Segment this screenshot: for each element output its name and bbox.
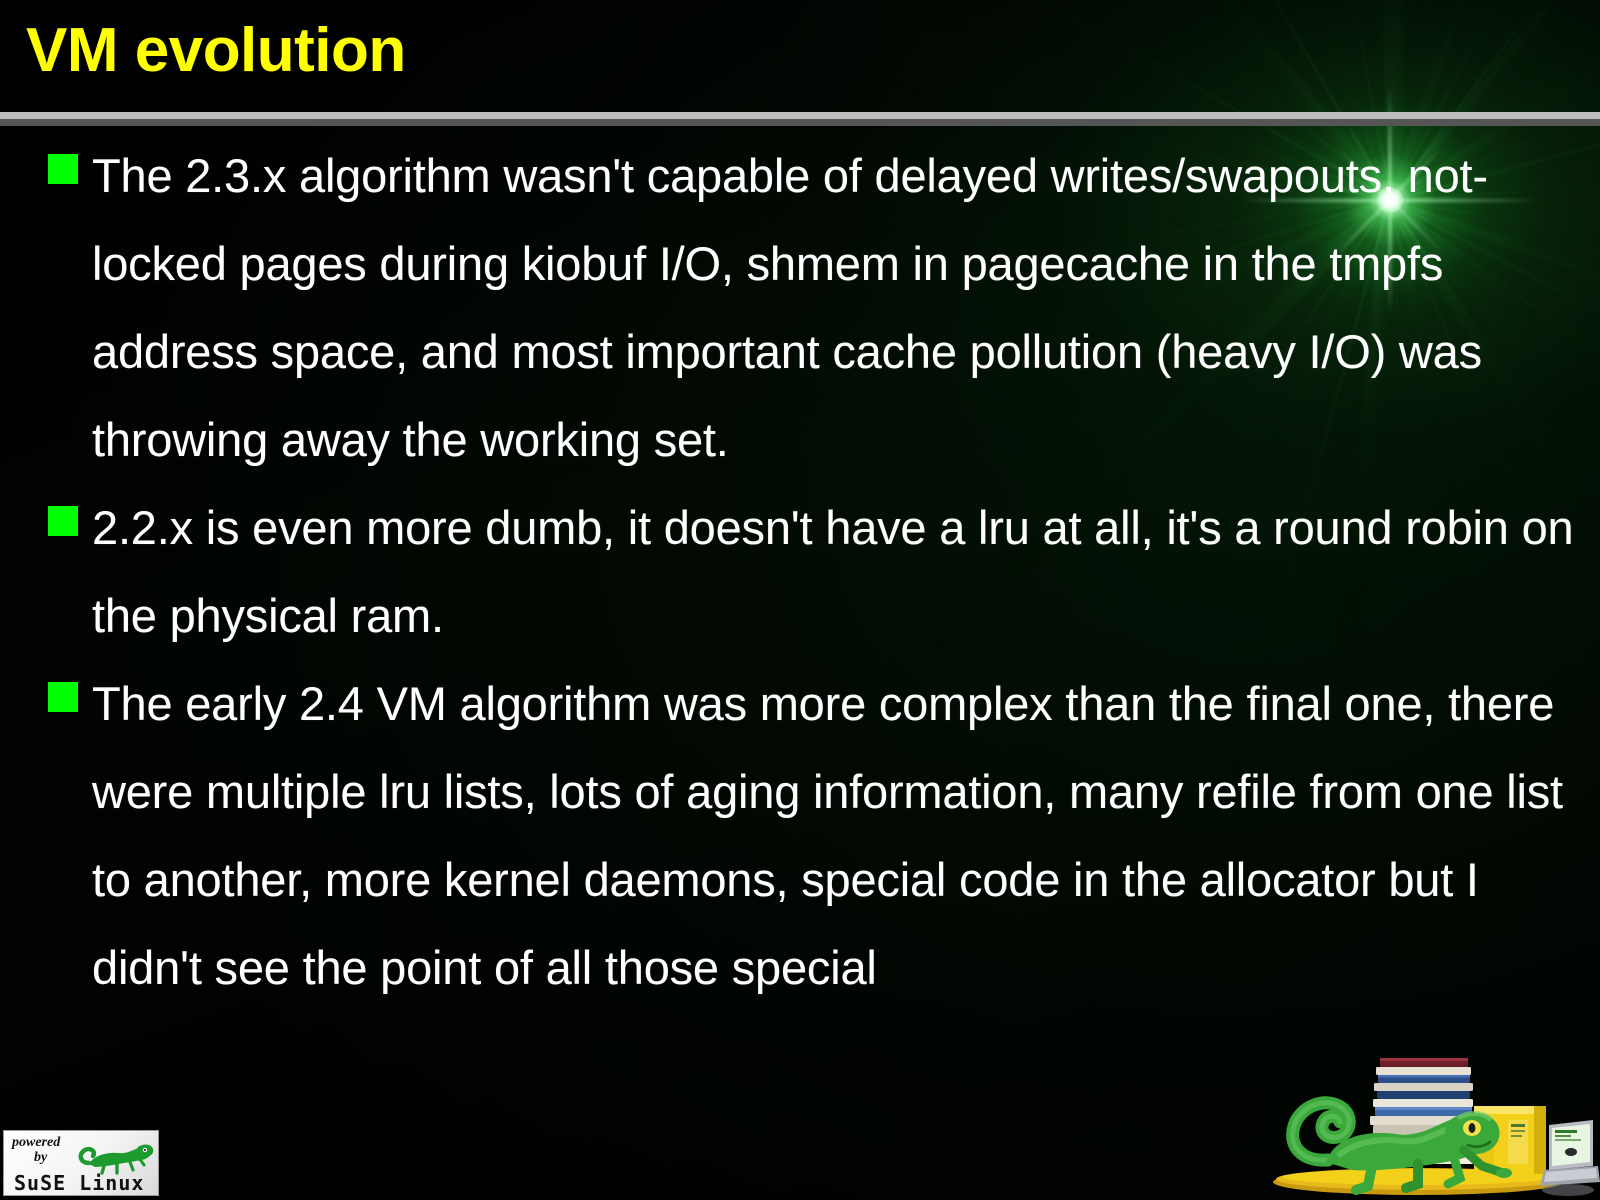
gecko-books-laptop-icon	[1268, 1010, 1600, 1200]
green-square-bullet-icon	[48, 682, 78, 712]
divider-light-band	[0, 112, 1600, 119]
bullet-item: The 2.3.x algorithm wasn't capable of de…	[0, 132, 1600, 484]
divider-dark-band	[0, 119, 1600, 126]
slide-canvas: VM evolution The 2.3.x algorithm wasn't …	[0, 0, 1600, 1200]
chameleon-icon	[76, 1137, 154, 1175]
bullet-item: The early 2.4 VM algorithm was more comp…	[0, 660, 1600, 1012]
bullet-item: 2.2.x is even more dumb, it doesn't have…	[0, 484, 1600, 660]
slide-body: The 2.3.x algorithm wasn't capable of de…	[0, 132, 1600, 1012]
by-word: by	[34, 1150, 60, 1165]
suse-linux-logo-badge: powered by SuSE Linux	[3, 1130, 159, 1196]
powered-word: powered	[12, 1135, 60, 1150]
title-divider	[0, 112, 1600, 126]
suse-linux-wordmark: SuSE Linux	[14, 1171, 144, 1195]
slide-title: VM evolution	[26, 20, 406, 82]
green-square-bullet-icon	[48, 154, 78, 184]
chameleon-glyph	[76, 1137, 154, 1175]
green-square-bullet-icon	[48, 506, 78, 536]
bullet-text: The 2.3.x algorithm wasn't capable of de…	[92, 149, 1488, 466]
gecko-books-artwork	[1268, 1010, 1600, 1200]
bullet-text: 2.2.x is even more dumb, it doesn't have…	[92, 501, 1573, 642]
bullet-text: The early 2.4 VM algorithm was more comp…	[92, 677, 1563, 994]
powered-by-label: powered by	[12, 1135, 60, 1165]
